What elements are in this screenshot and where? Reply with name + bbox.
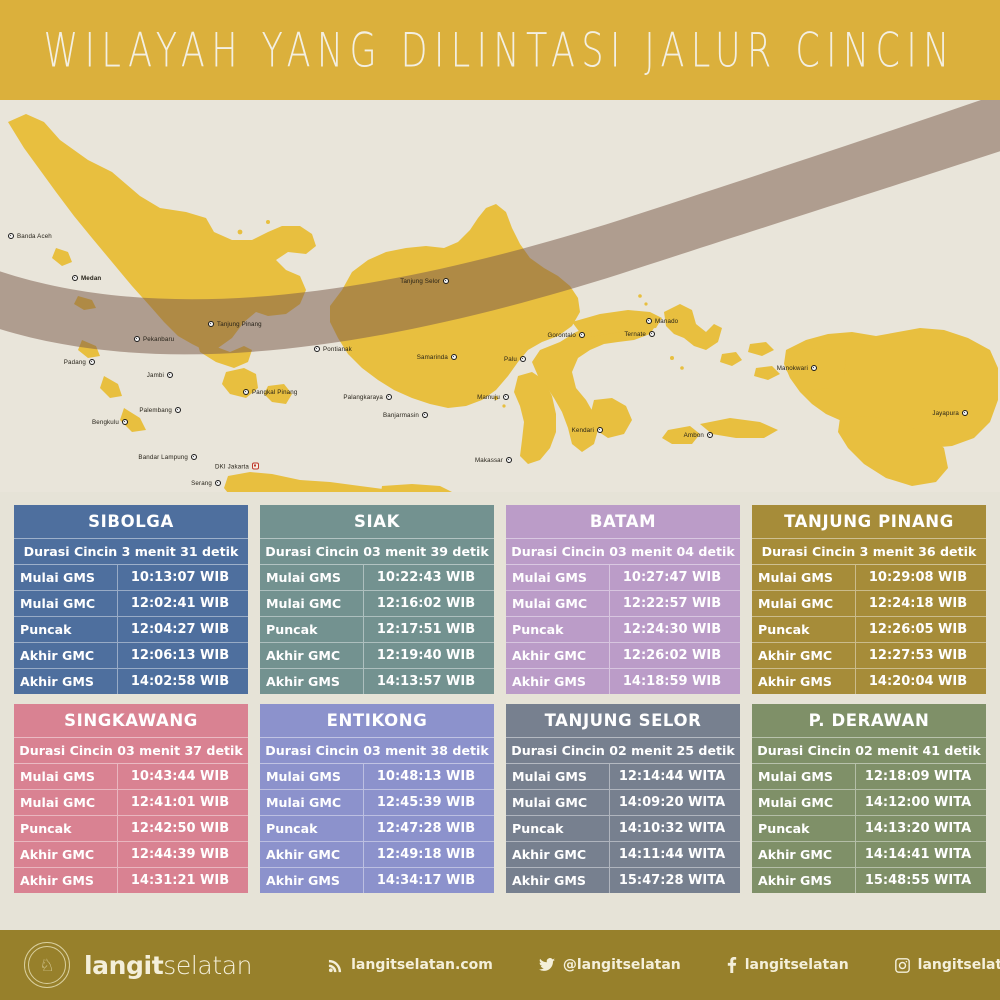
timing-row-label: Mulai GMS <box>506 565 610 590</box>
timing-row-label: Puncak <box>752 816 856 841</box>
map-city-label: Ternate <box>624 330 655 338</box>
map-city-label: Jayapura <box>932 409 968 417</box>
map-city-marker-icon <box>506 457 512 463</box>
timing-row-label: Akhir GMS <box>260 669 364 694</box>
timing-row-label: Akhir GMS <box>14 669 118 694</box>
map-city-label: Gorontalo <box>547 331 585 339</box>
timing-row: Mulai GMS10:29:08 WIB <box>752 565 986 591</box>
map-city-marker-icon <box>646 318 652 324</box>
timing-row: Akhir GMC14:14:41 WITA <box>752 842 986 868</box>
island-nias <box>52 248 72 266</box>
timing-row: Akhir GMS14:31:21 WIB <box>14 868 248 893</box>
timing-row: Akhir GMC12:49:18 WIB <box>260 842 494 868</box>
map-city-label: Banda Aceh <box>8 232 52 240</box>
timing-row-label: Akhir GMS <box>14 868 118 893</box>
social-link[interactable]: langitselatan.com <box>328 957 493 973</box>
map-city-name: Ambon <box>684 432 704 439</box>
timing-row: Mulai GMS10:48:13 WIB <box>260 764 494 790</box>
map-city-marker-icon <box>649 331 655 337</box>
timing-row-value: 12:26:02 WIB <box>610 643 740 668</box>
map-city-name: Samarinda <box>417 354 448 361</box>
brand-block: ♘ langitselatan <box>24 942 252 988</box>
timing-row-label: Mulai GMC <box>260 790 364 815</box>
map-region: Banda AcehMedanTanjung PinangPekanbaruPa… <box>0 100 1000 492</box>
timing-card-duration: Durasi Cincin 3 menit 36 detik <box>752 539 986 565</box>
timing-row: Mulai GMS10:13:07 WIB <box>14 565 248 591</box>
timing-row: Mulai GMC14:09:20 WITA <box>506 790 740 816</box>
twitter-icon <box>539 958 555 972</box>
timing-row-value: 14:11:44 WITA <box>610 842 740 867</box>
timing-row-label: Akhir GMC <box>260 842 364 867</box>
timing-row: Akhir GMS14:13:57 WIB <box>260 669 494 694</box>
timing-row-value: 14:20:04 WIB <box>856 669 986 694</box>
timing-row-label: Mulai GMC <box>14 790 118 815</box>
rss-icon <box>328 958 343 973</box>
timing-row: Akhir GMC12:27:53 WIB <box>752 643 986 669</box>
timing-row-value: 12:19:40 WIB <box>364 643 494 668</box>
map-city-label: Ambon <box>684 431 713 439</box>
timing-row-label: Akhir GMC <box>752 643 856 668</box>
map-city-marker-icon <box>208 321 214 327</box>
timing-row: Akhir GMC12:26:02 WIB <box>506 643 740 669</box>
map-city-name: Ternate <box>624 331 646 338</box>
timing-row-value: 10:27:47 WIB <box>610 565 740 590</box>
timing-card-duration: Durasi Cincin 02 menit 25 detik <box>506 738 740 764</box>
timing-row-label: Akhir GMS <box>752 868 856 893</box>
map-city-marker-icon <box>72 275 78 281</box>
timing-row-value: 10:43:44 WIB <box>118 764 248 789</box>
timing-card-title: TANJUNG SELOR <box>506 704 740 738</box>
map-city-marker-icon <box>89 359 95 365</box>
timing-row: Akhir GMC12:06:13 WIB <box>14 643 248 669</box>
timing-row-label: Mulai GMS <box>14 764 118 789</box>
timing-card: SIBOLGADurasi Cincin 3 menit 31 detikMul… <box>14 505 248 694</box>
timing-row-value: 10:48:13 WIB <box>364 764 494 789</box>
map-city-marker-icon <box>443 278 449 284</box>
islet <box>638 294 642 298</box>
timing-row-label: Akhir GMC <box>14 643 118 668</box>
timing-row: Puncak12:24:30 WIB <box>506 617 740 643</box>
timing-row-value: 12:06:13 WIB <box>118 643 248 668</box>
social-links: langitselatan.com@langitselatanlangitsel… <box>328 957 1000 973</box>
timing-row: Puncak12:47:28 WIB <box>260 816 494 842</box>
timing-row: Mulai GMS12:18:09 WITA <box>752 764 986 790</box>
timing-row: Mulai GMC12:45:39 WIB <box>260 790 494 816</box>
social-link[interactable]: langitselatan <box>727 957 849 973</box>
map-city-marker-icon <box>579 332 585 338</box>
map-city-label: Tanjung Pinang <box>208 320 262 328</box>
island-maluku-small-2 <box>748 342 774 356</box>
timing-row-label: Puncak <box>506 816 610 841</box>
timing-card: TANJUNG PINANGDurasi Cincin 3 menit 36 d… <box>752 505 986 694</box>
timing-card: SIAKDurasi Cincin 03 menit 39 detikMulai… <box>260 505 494 694</box>
facebook-icon <box>727 957 737 973</box>
page-title: WILAYAH YANG DILINTASI JALUR CINCIN <box>44 23 956 78</box>
timing-row-label: Mulai GMC <box>14 591 118 616</box>
timing-row: Akhir GMS14:20:04 WIB <box>752 669 986 694</box>
timing-row: Mulai GMC14:12:00 WITA <box>752 790 986 816</box>
timing-card-title: SIAK <box>260 505 494 539</box>
timing-row: Mulai GMC12:22:57 WIB <box>506 591 740 617</box>
timing-row-value: 14:13:57 WIB <box>364 669 494 694</box>
social-handle: langitselatanmedia <box>918 957 1000 973</box>
map-city-name: Makassar <box>475 457 503 464</box>
infographic-page: WILAYAH YANG DILINTASI JALUR CINCIN <box>0 0 1000 1000</box>
timing-row-value: 12:24:30 WIB <box>610 617 740 642</box>
map-city-name: Pekanbaru <box>143 336 174 343</box>
timing-card-title: SINGKAWANG <box>14 704 248 738</box>
timing-row-label: Mulai GMC <box>260 591 364 616</box>
timing-card-title: P. DERAWAN <box>752 704 986 738</box>
map-city-label: Samarinda <box>417 353 457 361</box>
timing-row-value: 14:31:21 WIB <box>118 868 248 893</box>
instagram-icon <box>895 958 910 973</box>
map-city-name: Medan <box>81 275 101 282</box>
timing-card-duration: Durasi Cincin 03 menit 37 detik <box>14 738 248 764</box>
timing-row-label: Akhir GMC <box>506 643 610 668</box>
map-city-marker-icon <box>422 412 428 418</box>
timing-row: Mulai GMC12:02:41 WIB <box>14 591 248 617</box>
timing-row-label: Akhir GMC <box>506 842 610 867</box>
timing-row-label: Puncak <box>260 816 364 841</box>
timing-row-value: 12:04:27 WIB <box>118 617 248 642</box>
timing-card: ENTIKONGDurasi Cincin 03 menit 38 detikM… <box>260 704 494 893</box>
map-city-label: Palu <box>504 355 526 363</box>
timing-row-label: Puncak <box>260 617 364 642</box>
timing-card-title: SIBOLGA <box>14 505 248 539</box>
timing-row: Akhir GMS14:02:58 WIB <box>14 669 248 694</box>
timing-row: Puncak12:26:05 WIB <box>752 617 986 643</box>
map-city-label: Pontianak <box>314 345 352 353</box>
timing-row: Akhir GMS14:18:59 WIB <box>506 669 740 694</box>
map-city-label: Serang <box>191 479 221 487</box>
timing-row-label: Akhir GMC <box>260 643 364 668</box>
timing-row-value: 12:41:01 WIB <box>118 790 248 815</box>
islet <box>266 220 270 224</box>
timing-row: Puncak12:42:50 WIB <box>14 816 248 842</box>
map-city-label: Manado <box>646 317 678 325</box>
timing-row: Puncak14:10:32 WITA <box>506 816 740 842</box>
timing-row: Mulai GMC12:41:01 WIB <box>14 790 248 816</box>
timing-card-duration: Durasi Cincin 03 menit 04 detik <box>506 539 740 565</box>
timing-card: TANJUNG SELORDurasi Cincin 02 menit 25 d… <box>506 704 740 893</box>
map-city-name: Manokwari <box>777 365 808 372</box>
timing-row-label: Mulai GMC <box>752 790 856 815</box>
social-handle: langitselatan.com <box>351 957 493 973</box>
timing-row-label: Mulai GMS <box>752 764 856 789</box>
timing-row-value: 14:34:17 WIB <box>364 868 494 893</box>
timing-row-value: 12:27:53 WIB <box>856 643 986 668</box>
timing-card: BATAMDurasi Cincin 03 menit 04 detikMula… <box>506 505 740 694</box>
map-city-name: Pangkal Pinang <box>252 389 297 396</box>
map-city-marker-icon <box>520 356 526 362</box>
timing-card-duration: Durasi Cincin 3 menit 31 detik <box>14 539 248 565</box>
islet <box>670 356 674 360</box>
social-link[interactable]: @langitselatan <box>539 957 681 973</box>
page-header: WILAYAH YANG DILINTASI JALUR CINCIN <box>0 0 1000 100</box>
brand-name-bold: langit <box>84 951 163 980</box>
timing-row-label: Mulai GMC <box>506 591 610 616</box>
map-city-label: Bandar Lampung <box>138 453 197 461</box>
timing-row-value: 12:42:50 WIB <box>118 816 248 841</box>
map-city-marker-icon <box>962 410 968 416</box>
map-city-name: Gorontalo <box>547 332 576 339</box>
timing-row: Akhir GMS15:47:28 WITA <box>506 868 740 893</box>
map-city-label: Bengkulu <box>92 418 128 426</box>
timing-row-label: Puncak <box>14 816 118 841</box>
map-city-marker-icon <box>451 354 457 360</box>
map-city-marker-icon <box>8 233 14 239</box>
timing-row: Mulai GMC12:24:18 WIB <box>752 591 986 617</box>
timing-row-label: Mulai GMS <box>260 565 364 590</box>
islet <box>502 404 505 407</box>
timing-card-duration: Durasi Cincin 03 menit 39 detik <box>260 539 494 565</box>
island-java-east <box>380 484 452 492</box>
timing-row: Akhir GMC12:19:40 WIB <box>260 643 494 669</box>
brand-name-light: selatan <box>163 951 252 980</box>
timing-row-value: 14:13:20 WITA <box>856 816 986 841</box>
map-city-marker-icon <box>707 432 713 438</box>
timing-row-value: 12:24:18 WIB <box>856 591 986 616</box>
timing-row-value: 12:14:44 WITA <box>610 764 740 789</box>
timing-row-label: Mulai GMS <box>752 565 856 590</box>
timing-card: P. DERAWANDurasi Cincin 02 menit 41 deti… <box>752 704 986 893</box>
timing-row-value: 12:18:09 WITA <box>856 764 986 789</box>
timing-row-value: 10:29:08 WIB <box>856 565 986 590</box>
map-city-name: Jambi <box>147 372 164 379</box>
islands-mentawai-3 <box>100 376 122 398</box>
map-city-name: Jayapura <box>932 410 959 417</box>
timing-row-value: 10:22:43 WIB <box>364 565 494 590</box>
map-city-name: Bandar Lampung <box>138 454 188 461</box>
timing-row: Akhir GMS15:48:55 WITA <box>752 868 986 893</box>
timing-row: Akhir GMS14:34:17 WIB <box>260 868 494 893</box>
timing-row: Mulai GMS10:27:47 WIB <box>506 565 740 591</box>
timing-row-label: Akhir GMS <box>506 868 610 893</box>
social-handle: langitselatan <box>745 957 849 973</box>
islet <box>238 230 243 235</box>
map-city-label: Palangkaraya <box>343 393 392 401</box>
timing-row-label: Mulai GMC <box>506 790 610 815</box>
map-city-label: Medan <box>72 274 101 282</box>
timing-row: Puncak12:04:27 WIB <box>14 617 248 643</box>
map-city-marker-icon <box>386 394 392 400</box>
social-handle: @langitselatan <box>563 957 681 973</box>
island-halmahera <box>664 304 722 350</box>
timing-row-value: 12:26:05 WIB <box>856 617 986 642</box>
map-city-label: Pangkal Pinang <box>243 388 297 396</box>
brand-name: langitselatan <box>84 951 252 980</box>
map-city-marker-icon <box>191 454 197 460</box>
langitselatan-seal-logo: ♘ <box>24 942 70 988</box>
map-city-marker-icon <box>134 336 140 342</box>
map-city-marker-icon <box>314 346 320 352</box>
map-city-label: DKI Jakarta <box>215 462 259 471</box>
timing-row-value: 14:02:58 WIB <box>118 669 248 694</box>
timing-row-value: 14:10:32 WITA <box>610 816 740 841</box>
timing-row-label: Mulai GMS <box>506 764 610 789</box>
map-city-label: Padang <box>64 358 95 366</box>
map-city-name: Kendari <box>572 427 594 434</box>
map-city-name: Manado <box>655 318 678 325</box>
timing-row-label: Akhir GMS <box>260 868 364 893</box>
page-footer: ♘ langitselatan langitselatan.com@langit… <box>0 930 1000 1000</box>
map-city-label: Makassar <box>475 456 512 464</box>
map-city-name: Banda Aceh <box>17 233 52 240</box>
map-city-name: Banjarmasin <box>383 412 419 419</box>
timing-row: Akhir GMC14:11:44 WITA <box>506 842 740 868</box>
timing-row-value: 12:02:41 WIB <box>118 591 248 616</box>
map-city-marker-icon <box>175 407 181 413</box>
social-link[interactable]: langitselatanmedia <box>895 957 1000 973</box>
timing-card-title: BATAM <box>506 505 740 539</box>
timing-row-value: 14:09:20 WITA <box>610 790 740 815</box>
indonesia-map-svg <box>0 100 1000 492</box>
timing-card-title: TANJUNG PINANG <box>752 505 986 539</box>
timing-row-label: Mulai GMS <box>14 565 118 590</box>
map-city-name: Palembang <box>139 407 172 414</box>
timing-row-value: 10:13:07 WIB <box>118 565 248 590</box>
map-city-marker-icon <box>243 389 249 395</box>
islet <box>644 302 647 305</box>
map-city-marker-icon <box>167 372 173 378</box>
timing-row-label: Puncak <box>14 617 118 642</box>
timing-row-value: 14:12:00 WITA <box>856 790 986 815</box>
map-city-label: Banjarmasin <box>383 411 428 419</box>
map-city-name: Pontianak <box>323 346 352 353</box>
map-city-marker-icon <box>503 394 509 400</box>
map-city-marker-icon <box>122 419 128 425</box>
map-city-name: DKI Jakarta <box>215 464 249 471</box>
timing-row-label: Akhir GMC <box>752 842 856 867</box>
timing-row-value: 12:45:39 WIB <box>364 790 494 815</box>
timing-row-value: 12:44:39 WIB <box>118 842 248 867</box>
map-city-label: Tanjung Selor <box>400 277 449 285</box>
timing-card-duration: Durasi Cincin 03 menit 38 detik <box>260 738 494 764</box>
map-city-label: Manokwari <box>777 364 817 372</box>
timing-row: Puncak12:17:51 WIB <box>260 617 494 643</box>
map-city-name: Padang <box>64 359 86 366</box>
map-city-marker-icon <box>215 480 221 486</box>
map-city-label: Kendari <box>572 426 603 434</box>
timing-row: Mulai GMS10:22:43 WIB <box>260 565 494 591</box>
map-city-marker-icon <box>597 427 603 433</box>
timing-row-label: Puncak <box>506 617 610 642</box>
map-city-name: Mamuju <box>477 394 500 401</box>
timing-row-value: 12:49:18 WIB <box>364 842 494 867</box>
timing-row: Akhir GMC12:44:39 WIB <box>14 842 248 868</box>
timing-row-value: 12:16:02 WIB <box>364 591 494 616</box>
timing-row-value: 14:18:59 WIB <box>610 669 740 694</box>
horse-rider-icon: ♘ <box>39 957 54 974</box>
timing-row-label: Akhir GMC <box>14 842 118 867</box>
timing-row-label: Mulai GMC <box>752 591 856 616</box>
timing-row-label: Mulai GMS <box>260 764 364 789</box>
map-city-name: Bengkulu <box>92 419 119 426</box>
timing-card-duration: Durasi Cincin 02 menit 41 detik <box>752 738 986 764</box>
islet <box>680 366 684 370</box>
map-city-name: Serang <box>191 480 212 487</box>
timing-row-value: 15:47:28 WITA <box>610 868 740 893</box>
map-city-name: Tanjung Selor <box>400 278 440 285</box>
island-maluku-small-1 <box>720 352 742 366</box>
map-city-label: Palembang <box>139 406 181 414</box>
timing-row-value: 14:14:41 WITA <box>856 842 986 867</box>
timing-row-value: 12:47:28 WIB <box>364 816 494 841</box>
map-city-name: Palu <box>504 356 517 363</box>
city-timing-cards: SIBOLGADurasi Cincin 3 menit 31 detikMul… <box>14 505 986 893</box>
timing-card: SINGKAWANGDurasi Cincin 03 menit 37 deti… <box>14 704 248 893</box>
map-city-name: Palangkaraya <box>343 394 383 401</box>
timing-row-value: 15:48:55 WITA <box>856 868 986 893</box>
map-city-label: Pekanbaru <box>134 335 174 343</box>
timing-card-title: ENTIKONG <box>260 704 494 738</box>
timing-row-value: 12:22:57 WIB <box>610 591 740 616</box>
timing-row-value: 12:17:51 WIB <box>364 617 494 642</box>
timing-row: Puncak14:13:20 WITA <box>752 816 986 842</box>
timing-row-label: Puncak <box>752 617 856 642</box>
timing-row: Mulai GMS10:43:44 WIB <box>14 764 248 790</box>
map-city-marker-icon <box>811 365 817 371</box>
map-city-label: Mamuju <box>477 393 509 401</box>
timing-row: Mulai GMS12:14:44 WITA <box>506 764 740 790</box>
map-city-name: Tanjung Pinang <box>217 321 262 328</box>
timing-row-label: Akhir GMS <box>752 669 856 694</box>
timing-row: Mulai GMC12:16:02 WIB <box>260 591 494 617</box>
map-city-label: Jambi <box>147 371 173 379</box>
map-city-marker-icon <box>252 463 259 470</box>
timing-row-label: Akhir GMS <box>506 669 610 694</box>
